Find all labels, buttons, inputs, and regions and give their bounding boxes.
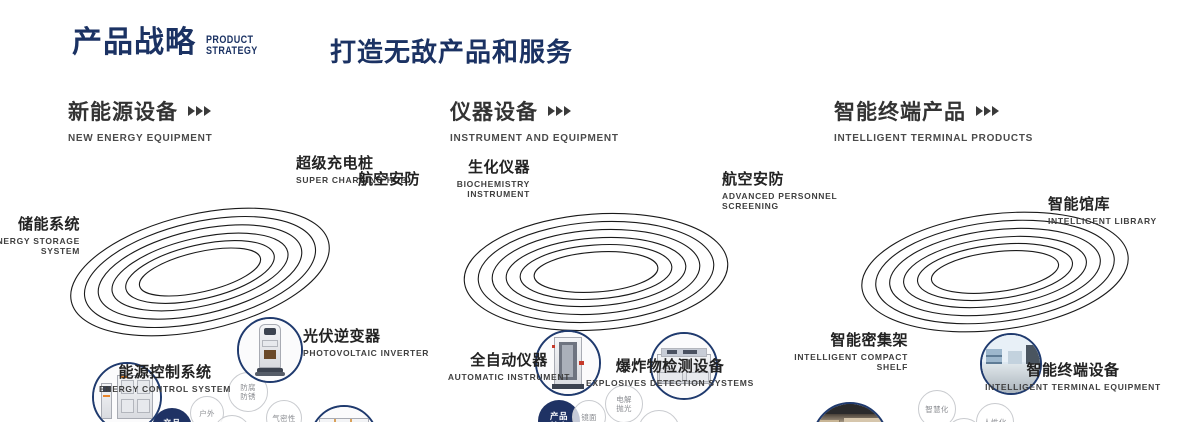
caption-cn: 爆炸物检测设备 [580,355,760,376]
section-title-en: NEW ENERGY EQUIPMENT [68,133,212,144]
keyword-bubble: 人性化 [976,403,1014,422]
caption-en: ENERGY STORAGE SYSTEM [0,236,80,256]
section-title-cn: 智能终端产品 [834,96,966,126]
keyword-label-wrapped: 电解 抛光 [616,395,632,413]
caption-automatic-instrument: 全自动仪器 AUTOMATIC INSTRUMENT [429,349,589,382]
caption-cn: 全自动仪器 [429,349,589,370]
caption-biochemistry-instrument: 生化仪器 BIOCHEMISTRY INSTRUMENT [410,156,530,199]
caption-cn: 智能馆库 [1048,193,1157,214]
diagram-instrument: 产品 特点 镜面 电解 抛光 零缺陷 钣金与 机加工结合 [400,150,800,400]
caption-en: INTELLIGENT TERMINAL EQUIPMENT [973,382,1173,392]
feature-badge-line1: 产品 [163,418,181,422]
caption-en: INTELLIGENT COMPACT SHELF [780,352,908,372]
page-title-en: PRODUCT STRATEGY [206,35,258,57]
caption-cn: 智能终端设备 [973,359,1173,380]
caption-en: BIOCHEMISTRY INSTRUMENT [410,179,530,199]
section-title-cn: 仪器设备 [450,96,538,126]
caption-cn: 智能密集架 [780,329,908,350]
keyword-bubble: 户外 [190,396,224,422]
page-slogan: 打造无敌产品和服务 [330,32,573,69]
keyword-label: 气密性 [272,414,295,422]
node-pv-inverter[interactable] [310,405,378,422]
chevron-right-icon [976,106,999,116]
section-title-intelligent-terminal: 智能终端产品 INTELLIGENT TERMINAL PRODUCTS [834,96,1033,144]
keyword-bubble: 智慧化 [918,390,956,422]
node-super-charging-hub[interactable] [237,317,303,383]
keyword-label: 户外 [199,409,215,418]
page-title: 产品战略 PRODUCT STRATEGY [72,28,269,58]
chevron-right-icon [548,106,571,116]
keyword-bubble: 钣金与 机加工结合 [638,410,680,422]
keyword-bubble: 电解 抛光 [605,385,643,422]
page-title-en-line2: STRATEGY [206,46,258,57]
section-title-instrument: 仪器设备 INSTRUMENT AND EQUIPMENT [450,96,619,144]
caption-en: EXPLOSIVES DETECTION SYSTEMS [580,378,760,388]
caption-cn: 储能系统 [0,213,80,234]
caption-explosives-detection: 爆炸物检测设备 EXPLOSIVES DETECTION SYSTEMS [580,355,760,388]
compact-shelf-icon [814,404,886,422]
section-title-en: INSTRUMENT AND EQUIPMENT [450,133,619,144]
product-strategy-infographic: 产品战略 PRODUCT STRATEGY 打造无敌产品和服务 新能源设备 NE… [0,0,1200,422]
caption-en: INTELLIGENT LIBRARY [1048,216,1157,226]
caption-energy-control-system: 能源控制系统 ENERGY CONTROL SYSTEM [85,361,245,394]
page-title-cn: 产品战略 [72,28,196,58]
caption-aviation-security-left: 航空安防 [310,168,420,189]
caption-intelligent-compact-shelf: 智能密集架 INTELLIGENT COMPACT SHELF [780,329,908,372]
keyword-bubble: 气密性 [266,400,302,422]
node-intelligent-compact-shelf[interactable] [812,402,888,422]
section-title-new-energy: 新能源设备 NEW ENERGY EQUIPMENT [68,96,212,144]
keyword-label: 镜面 [581,413,597,422]
section-title-en: INTELLIGENT TERMINAL PRODUCTS [834,133,1033,144]
caption-en: AUTOMATIC INSTRUMENT [429,372,589,382]
chevron-right-icon [188,106,211,116]
pv-inverter-cabinet-icon [312,407,376,422]
caption-energy-storage: 储能系统 ENERGY STORAGE SYSTEM [0,213,80,256]
keyword-bubble: 镜面 [572,400,606,422]
caption-intelligent-library: 智能馆库 INTELLIGENT LIBRARY [1048,193,1157,226]
charging-pile-icon [239,319,301,381]
keyword-label: 人性化 [983,418,1006,422]
caption-cn: 能源控制系统 [85,361,245,382]
feature-badge-line1: 产品 [550,411,568,421]
caption-en: ENERGY CONTROL SYSTEM [85,384,245,394]
diagram-intelligent-terminal: 产品 特点 智慧化 数字化 人性化 [790,150,1200,400]
keyword-label: 智慧化 [925,405,948,414]
caption-cn: 航空安防 [310,168,420,189]
caption-cn: 生化仪器 [410,156,530,177]
section-title-cn: 新能源设备 [68,96,178,126]
caption-intelligent-terminal-equipment: 智能终端设备 INTELLIGENT TERMINAL EQUIPMENT [973,359,1173,392]
